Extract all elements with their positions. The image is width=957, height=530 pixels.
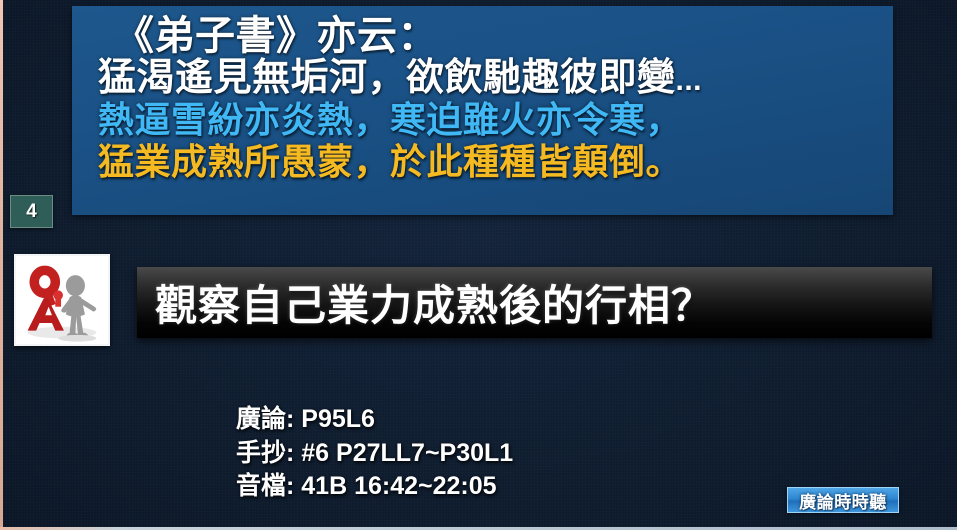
reference-line-audio: 音檔: 41B 16:42~22:05 [236, 470, 513, 504]
quote-line-verse-2: 熱逼雪紛亦炎熱，寒迫雖火亦令寒， [98, 102, 879, 138]
reference-line-shouchao: 手抄: #6 P27LL7~P30L1 [236, 437, 513, 471]
reference-line-guanglun: 廣論: P95L6 [236, 403, 513, 437]
quote-line-title: 《弟子書》亦云： [114, 16, 879, 56]
qa-illustration-icon [16, 256, 108, 344]
quote-line-verse-1-text: 猛渴遙見無垢河，欲飲馳趣彼即變 [98, 57, 676, 99]
qa-thumbnail-image [14, 254, 110, 346]
quote-line-verse-3: 猛業成熟所愚蒙，於此種種皆顛倒。 [98, 144, 879, 180]
reference-list: 廣論: P95L6 手抄: #6 P27LL7~P30L1 音檔: 41B 16… [236, 403, 513, 504]
page-number-badge: 4 [10, 195, 53, 228]
scripture-quote-panel: 《弟子書》亦云： 猛渴遙見無垢河，欲飲馳趣彼即變... 熱逼雪紛亦炎熱，寒迫雖火… [72, 6, 893, 215]
channel-badge: 廣論時時聽 [787, 487, 899, 513]
channel-badge-label: 廣論時時聽 [799, 488, 887, 513]
question-banner-text: 觀察自己業力成熟後的行相？ [155, 272, 714, 333]
frame-edge-left [0, 0, 3, 530]
quote-line-verse-1-ellipsis: ... [676, 64, 703, 97]
presentation-slide: 《弟子書》亦云： 猛渴遙見無垢河，欲飲馳趣彼即變... 熱逼雪紛亦炎熱，寒迫雖火… [0, 0, 957, 530]
quote-line-verse-1: 猛渴遙見無垢河，欲飲馳趣彼即變... [98, 59, 879, 97]
question-banner: 觀察自己業力成熟後的行相？ [137, 267, 932, 338]
